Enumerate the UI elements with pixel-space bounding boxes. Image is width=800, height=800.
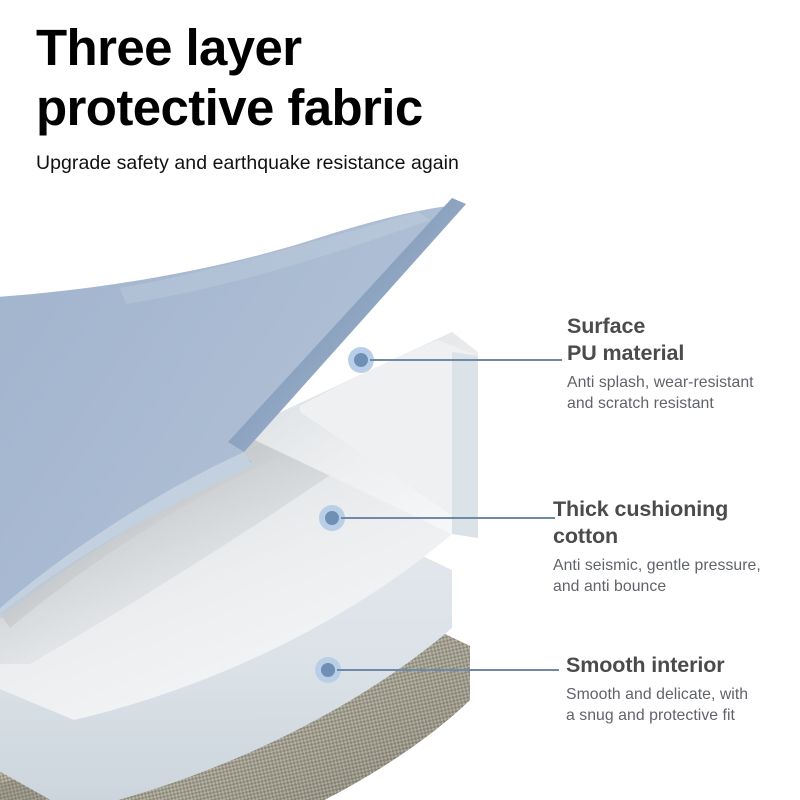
- label-surface-pu-material: Surface PU material Anti splash, wear-re…: [567, 313, 792, 414]
- label-description-line-1: Anti seismic, gentle pressure,: [553, 555, 793, 576]
- page-title-line-1: Three layer: [36, 18, 736, 78]
- label-heading-line-2: cotton: [553, 523, 793, 550]
- label-heading-line-1: Thick cushioning: [553, 496, 793, 523]
- label-description-line-1: Anti splash, wear-resistant: [567, 372, 792, 393]
- page-title-line-2: protective fabric: [36, 78, 736, 138]
- label-description-line-2: and scratch resistant: [567, 393, 792, 414]
- label-thick-cushioning-cotton: Thick cushioning cotton Anti seismic, ge…: [553, 496, 793, 597]
- leader-line-surface-pu-material: [370, 359, 562, 361]
- leader-line-smooth-interior: [337, 669, 559, 671]
- callout-dot-core: [321, 663, 335, 677]
- label-heading-line-2: PU material: [567, 340, 792, 367]
- page-subtitle: Upgrade safety and earthquake resistance…: [36, 151, 736, 176]
- label-smooth-interior: Smooth interior Smooth and delicate, wit…: [566, 652, 796, 726]
- label-description-line-2: a snug and protective fit: [566, 705, 796, 726]
- label-description-line-2: and anti bounce: [553, 576, 793, 597]
- infographic-page: Three layer protective fabric Upgrade sa…: [0, 0, 800, 800]
- callout-dot-core: [354, 353, 368, 367]
- label-heading-line-1: Smooth interior: [566, 652, 796, 679]
- label-heading-line-1: Surface: [567, 313, 792, 340]
- label-description-line-1: Smooth and delicate, with: [566, 684, 796, 705]
- leader-line-thick-cushioning-cotton: [341, 517, 555, 519]
- header: Three layer protective fabric Upgrade sa…: [36, 18, 736, 177]
- callout-dot-core: [325, 511, 339, 525]
